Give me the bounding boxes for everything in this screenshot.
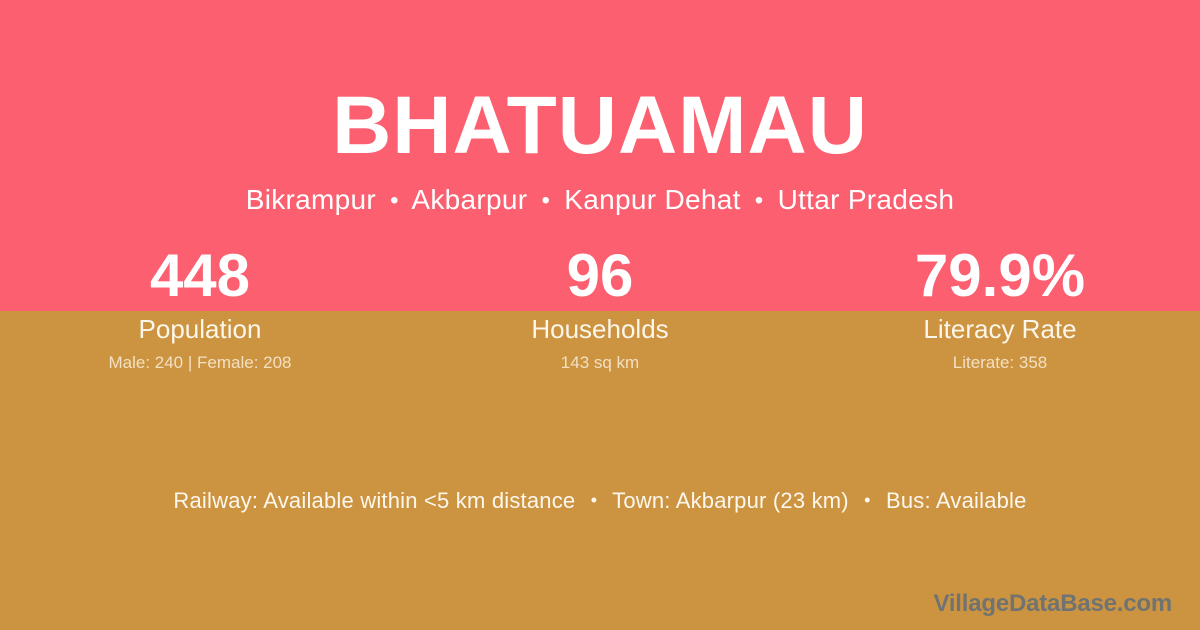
stat-value: 448 [0, 243, 400, 309]
breadcrumb-separator: • [384, 187, 405, 214]
site-brand-watermark: VillageDataBase.com [933, 588, 1172, 620]
amenity-railway: Railway: Available within <5 km distance [173, 488, 575, 513]
stat-population: 448 Population Male: 240 | Female: 208 [0, 243, 400, 374]
amenity-separator: • [582, 490, 607, 510]
breadcrumb-part-2: Kanpur Dehat [564, 184, 740, 215]
stat-subtext: Male: 240 | Female: 208 [0, 352, 400, 374]
stat-subtext: Literate: 358 [800, 352, 1200, 374]
breadcrumb-separator: • [536, 187, 557, 214]
breadcrumb-part-0: Bikrampur [246, 184, 376, 215]
amenity-bus: Bus: Available [886, 488, 1027, 513]
breadcrumb-part-1: Akbarpur [411, 184, 527, 215]
stat-literacy-rate: 79.9% Literacy Rate Literate: 358 [800, 243, 1200, 374]
stat-value: 79.9% [800, 243, 1200, 309]
breadcrumb-part-3: Uttar Pradesh [778, 184, 955, 215]
stat-households: 96 Households 143 sq km [400, 243, 800, 374]
amenity-town: Town: Akbarpur (23 km) [612, 488, 849, 513]
stat-subtext: 143 sq km [400, 352, 800, 374]
breadcrumb: Bikrampur • Akbarpur • Kanpur Dehat • Ut… [0, 182, 1200, 219]
breadcrumb-separator: • [749, 187, 770, 214]
stat-label: Households [400, 313, 800, 345]
amenity-separator: • [855, 490, 880, 510]
stat-label: Literacy Rate [800, 313, 1200, 345]
info-card: BHATUAMAU Bikrampur • Akbarpur • Kanpur … [0, 0, 1200, 630]
page-title: BHATUAMAU [0, 78, 1200, 174]
stats-row: 448 Population Male: 240 | Female: 208 9… [0, 243, 1200, 374]
stat-label: Population [0, 313, 400, 345]
stat-value: 96 [400, 243, 800, 309]
amenities-line: Railway: Available within <5 km distance… [0, 485, 1200, 516]
